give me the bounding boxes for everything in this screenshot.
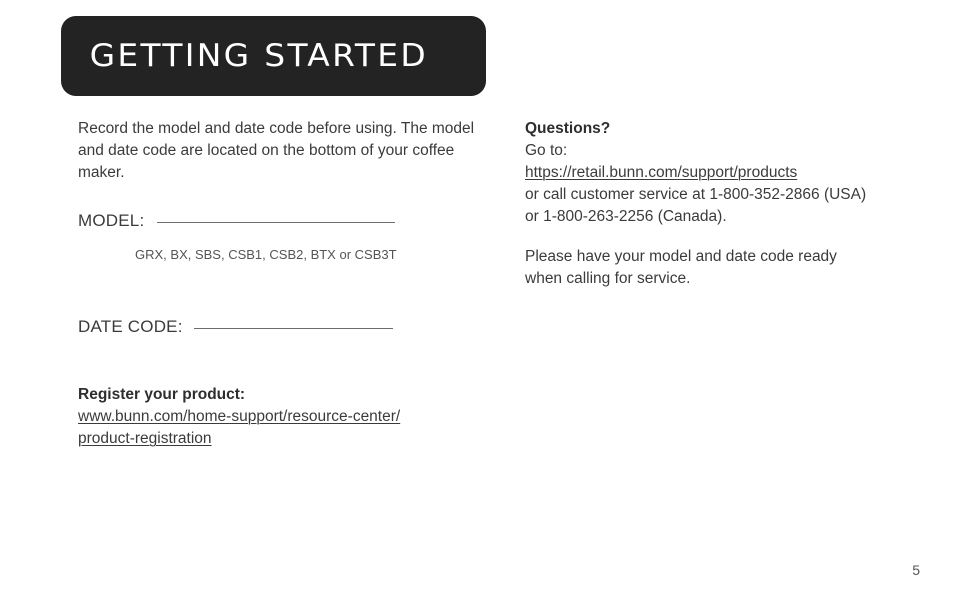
left-column: Record the model and date code before us… bbox=[78, 118, 478, 338]
register-url-line-2: product-registration bbox=[78, 428, 212, 450]
model-field-row[interactable]: MODEL: bbox=[78, 210, 478, 232]
document-page: GETTING STARTED Record the model and dat… bbox=[0, 0, 960, 600]
date-code-write-in-line[interactable] bbox=[194, 328, 393, 329]
model-number-list: GRX, BX, SBS, CSB1, CSB2, BTX or CSB3T bbox=[135, 246, 478, 264]
model-field-label: MODEL: bbox=[78, 210, 144, 232]
date-code-field-label: DATE CODE: bbox=[78, 316, 183, 338]
register-heading: Register your product: bbox=[78, 384, 498, 406]
intro-paragraph-block: Record the model and date code before us… bbox=[78, 118, 478, 184]
date-code-field-row[interactable]: DATE CODE: bbox=[78, 316, 478, 338]
section-header-banner: GETTING STARTED bbox=[61, 16, 486, 96]
service-note-line-1: Please have your model and date code rea… bbox=[525, 246, 935, 268]
register-product-block: Register your product: www.bunn.com/home… bbox=[78, 384, 498, 450]
spacer bbox=[78, 184, 478, 210]
go-to-label: Go to: bbox=[525, 140, 935, 162]
page-number: 5 bbox=[912, 562, 920, 578]
support-url-link[interactable]: https://retail.bunn.com/support/products bbox=[525, 162, 797, 184]
register-url-line-1: www.bunn.com/home-support/resource-cente… bbox=[78, 406, 400, 428]
phone-line-canada: or 1-800-263-2256 (Canada). bbox=[525, 206, 935, 228]
intro-paragraph: Record the model and date code before us… bbox=[78, 118, 478, 184]
phone-line-usa: or call customer service at 1-800-352-28… bbox=[525, 184, 935, 206]
register-url-link[interactable]: www.bunn.com/home-support/resource-cente… bbox=[78, 406, 498, 450]
service-note-line-2: when calling for service. bbox=[525, 268, 935, 290]
spacer bbox=[525, 228, 935, 246]
page-title: GETTING STARTED bbox=[61, 41, 428, 72]
right-column: Questions? Go to: https://retail.bunn.co… bbox=[525, 118, 935, 290]
model-write-in-line[interactable] bbox=[157, 222, 395, 223]
spacer bbox=[78, 264, 478, 316]
questions-heading: Questions? bbox=[525, 118, 935, 140]
